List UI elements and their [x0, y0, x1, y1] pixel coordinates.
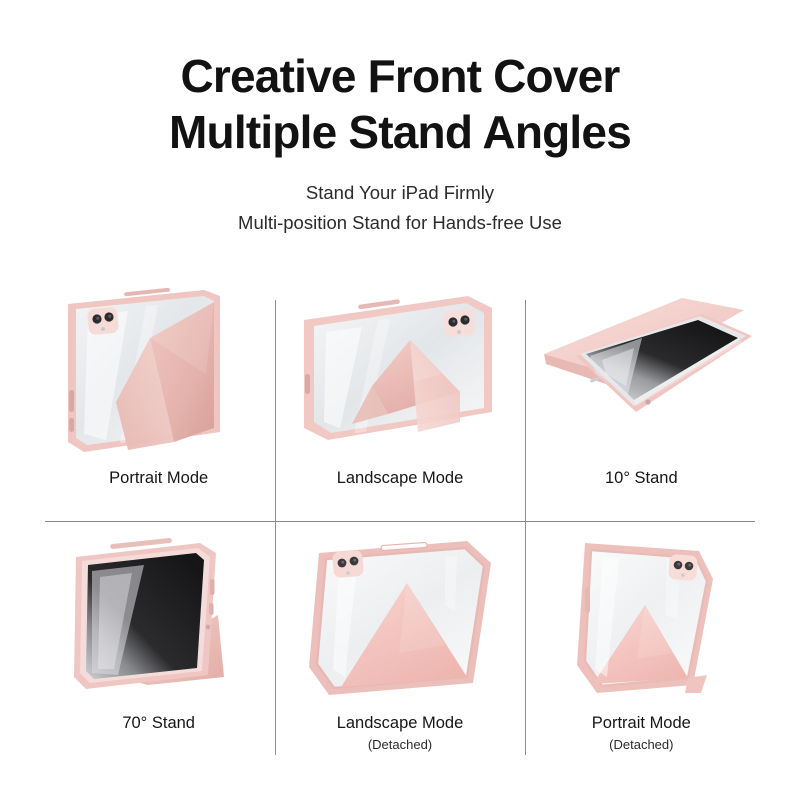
- product-photo-landscape-mode: [279, 282, 520, 460]
- tablet-landscape-stand-icon: [292, 282, 508, 460]
- feature-grid: Portrait Mode: [38, 282, 762, 772]
- page-title: Creative Front Cover Multiple Stand Angl…: [0, 48, 800, 160]
- grid-cell-portrait-mode: Portrait Mode: [38, 282, 279, 527]
- shell-landscape-icon: [295, 527, 505, 705]
- camera-cutout-icon: [668, 554, 698, 581]
- caption-portrait-mode-detached: Portrait Mode (Detached): [592, 713, 691, 755]
- shell-portrait-icon: [541, 527, 741, 705]
- product-photo-portrait-detached: [521, 527, 762, 705]
- headline-line-2: Multiple Stand Angles: [0, 104, 800, 160]
- product-photo-portrait-mode: [38, 282, 279, 460]
- product-photo-stand-10-degree: [521, 282, 762, 460]
- camera-cutout-icon: [332, 550, 364, 579]
- caption-text: Landscape Mode: [337, 468, 464, 489]
- product-feature-page: Creative Front Cover Multiple Stand Angl…: [0, 0, 800, 800]
- caption-stand-10-degree: 10° Stand: [605, 468, 678, 489]
- headline-line-1: Creative Front Cover: [0, 48, 800, 104]
- tablet-low-angle-icon: [530, 282, 752, 460]
- caption-text: 10° Stand: [605, 468, 678, 489]
- caption-subtext: (Detached): [337, 736, 464, 755]
- caption-landscape-mode-detached: Landscape Mode (Detached): [337, 713, 464, 755]
- grid-cell-landscape-mode-detached: Landscape Mode (Detached): [279, 527, 520, 772]
- grid-cell-stand-10-degree: 10° Stand: [521, 282, 762, 527]
- caption-portrait-mode: Portrait Mode: [109, 468, 208, 489]
- caption-stand-70-degree: 70° Stand: [122, 713, 195, 734]
- product-photo-landscape-detached: [279, 527, 520, 705]
- tablet-portrait-stand-icon: [54, 282, 264, 460]
- camera-module-icon: [87, 307, 119, 336]
- tablet-upright-icon: [52, 527, 266, 705]
- grid-cell-portrait-mode-detached: Portrait Mode (Detached): [521, 527, 762, 772]
- product-photo-stand-70-degree: [38, 527, 279, 705]
- caption-landscape-mode: Landscape Mode: [337, 468, 464, 489]
- caption-text: Portrait Mode: [109, 468, 208, 489]
- grid-cell-landscape-mode: Landscape Mode: [279, 282, 520, 527]
- header: Creative Front Cover Multiple Stand Angl…: [0, 48, 800, 238]
- caption-text: 70° Stand: [122, 713, 195, 734]
- caption-text: Landscape Mode: [337, 713, 464, 734]
- subtitle-line-1: Stand Your iPad Firmly: [0, 178, 800, 208]
- subtitle-line-2: Multi-position Stand for Hands-free Use: [0, 208, 800, 238]
- camera-module-icon: [443, 309, 476, 338]
- grid-cell-stand-70-degree: 70° Stand: [38, 527, 279, 772]
- caption-subtext: (Detached): [592, 736, 691, 755]
- caption-text: Portrait Mode: [592, 713, 691, 734]
- page-subtitle: Stand Your iPad Firmly Multi-position St…: [0, 178, 800, 238]
